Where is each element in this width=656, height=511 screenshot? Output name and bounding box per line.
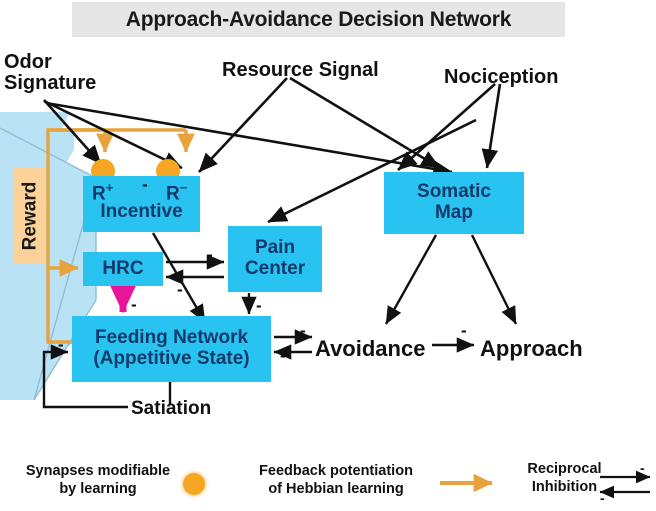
legend-minus-top: -: [640, 461, 645, 475]
node-hrc[interactable]: HRC: [83, 252, 163, 286]
minus-sign-satiation-to-feeding: -: [58, 336, 64, 353]
node-r-minus: R−: [166, 180, 187, 205]
node-somatic-line2: Map: [417, 203, 491, 224]
node-pain-line1: Pain: [245, 238, 305, 259]
input-label-resource-signal: Resource Signal: [222, 60, 379, 81]
minus-sign-rminus-to-rplus: -: [142, 176, 148, 193]
node-pain-center[interactable]: Pain Center: [228, 226, 322, 292]
node-r-plus: R+: [92, 180, 113, 205]
legend-minus-bottom: -: [600, 491, 605, 505]
diagram-canvas: Approach-Avoidance Decision Network: [0, 0, 656, 511]
minus-sign-hrc-to-feeding: -: [131, 296, 137, 313]
minus-sign-feeding-to-avoidance: -: [300, 322, 306, 339]
node-reward[interactable]: Reward: [14, 168, 46, 263]
node-pain-line2: Center: [245, 259, 305, 280]
node-somatic-line1: Somatic: [417, 182, 491, 203]
minus-sign-hrc-to-pain: -: [207, 246, 213, 263]
node-reward-label: Reward: [19, 181, 41, 250]
input-label-odor-signature: Odor Signature: [4, 52, 96, 94]
minus-sign-pain-to-hrc: -: [177, 281, 183, 298]
node-feeding-line1: Feeding Network: [93, 328, 249, 349]
odor-line2: Signature: [4, 73, 96, 94]
output-label-avoidance: Avoidance: [315, 337, 425, 360]
odor-line1: Odor: [4, 52, 96, 73]
node-somatic-map[interactable]: Somatic Map: [384, 172, 524, 234]
output-label-approach: Approach: [480, 337, 583, 360]
node-feeding-line2: (Appetitive State): [93, 349, 249, 370]
legend-glyph-layer: [0, 455, 656, 511]
feedback-label-satiation: Satiation: [131, 399, 211, 419]
minus-sign-pain-to-feeding: -: [256, 297, 262, 314]
minus-sign-avoidance-to-approach: -: [461, 322, 467, 339]
node-feeding-network[interactable]: Feeding Network (Appetitive State): [72, 316, 271, 382]
input-label-nociception: Nociception: [444, 67, 558, 88]
legend: Synapses modifiable by learning Feedback…: [0, 455, 656, 511]
node-hrc-label: HRC: [102, 259, 143, 280]
minus-sign-avoidance-to-feeding: -: [280, 347, 286, 364]
